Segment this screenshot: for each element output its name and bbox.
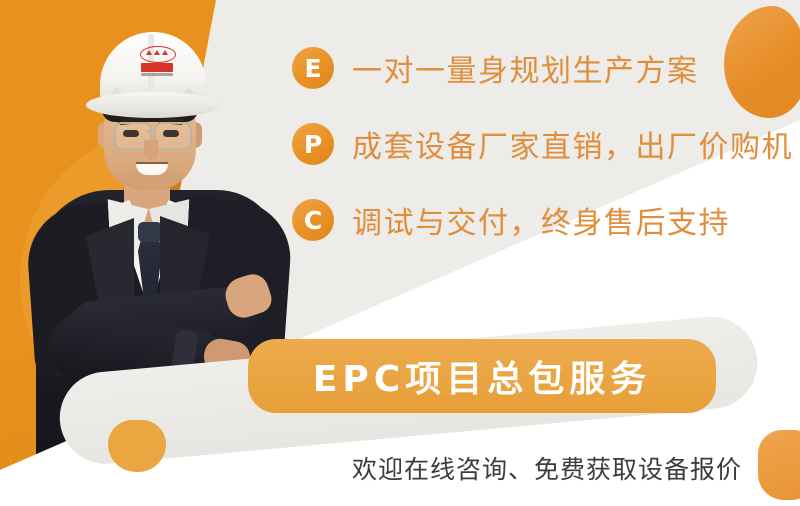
- eyeglass-lens-right: [154, 122, 192, 150]
- epc-service-label: EPC项目总包服务: [313, 350, 651, 402]
- feature-item-e: E 一对一量身规划生产方案: [292, 46, 762, 90]
- logo-wordmark: [141, 63, 173, 72]
- feature-badge-p: P: [292, 123, 334, 165]
- feature-list: E 一对一量身规划生产方案 P 成套设备厂家直销，出厂价购机 C 调试与交付，终…: [292, 46, 762, 274]
- feature-text-e: 一对一量身规划生产方案: [352, 46, 699, 90]
- footer-cta-text: 欢迎在线咨询、免费获取设备报价: [352, 450, 742, 486]
- epc-service-banner[interactable]: EPC项目总包服务: [248, 339, 716, 413]
- nose: [144, 140, 158, 160]
- logo-star-3: [162, 50, 168, 55]
- hard-hat-brim: [86, 92, 220, 118]
- feature-badge-c: C: [292, 199, 334, 241]
- decorative-blob-bottom-right: [758, 430, 800, 500]
- feature-badge-e: E: [292, 47, 334, 89]
- promo-banner: E 一对一量身规划生产方案 P 成套设备厂家直销，出厂价购机 C 调试与交付，终…: [0, 0, 800, 506]
- logo-subtext: [141, 73, 173, 76]
- feature-text-p: 成套设备厂家直销，出厂价购机: [352, 122, 793, 166]
- logo-star-2: [154, 50, 160, 55]
- eyeglass-bridge: [147, 130, 156, 132]
- logo-star-1: [146, 50, 152, 55]
- feature-item-c: C 调试与交付，终身售后支持: [292, 198, 762, 242]
- feature-item-p: P 成套设备厂家直销，出厂价购机: [292, 122, 762, 166]
- feature-text-c: 调试与交付，终身售后支持: [352, 198, 730, 242]
- necktie-knot: [138, 222, 162, 242]
- background-orange-pill: [108, 420, 166, 472]
- hard-hat-logo-icon: [140, 46, 174, 62]
